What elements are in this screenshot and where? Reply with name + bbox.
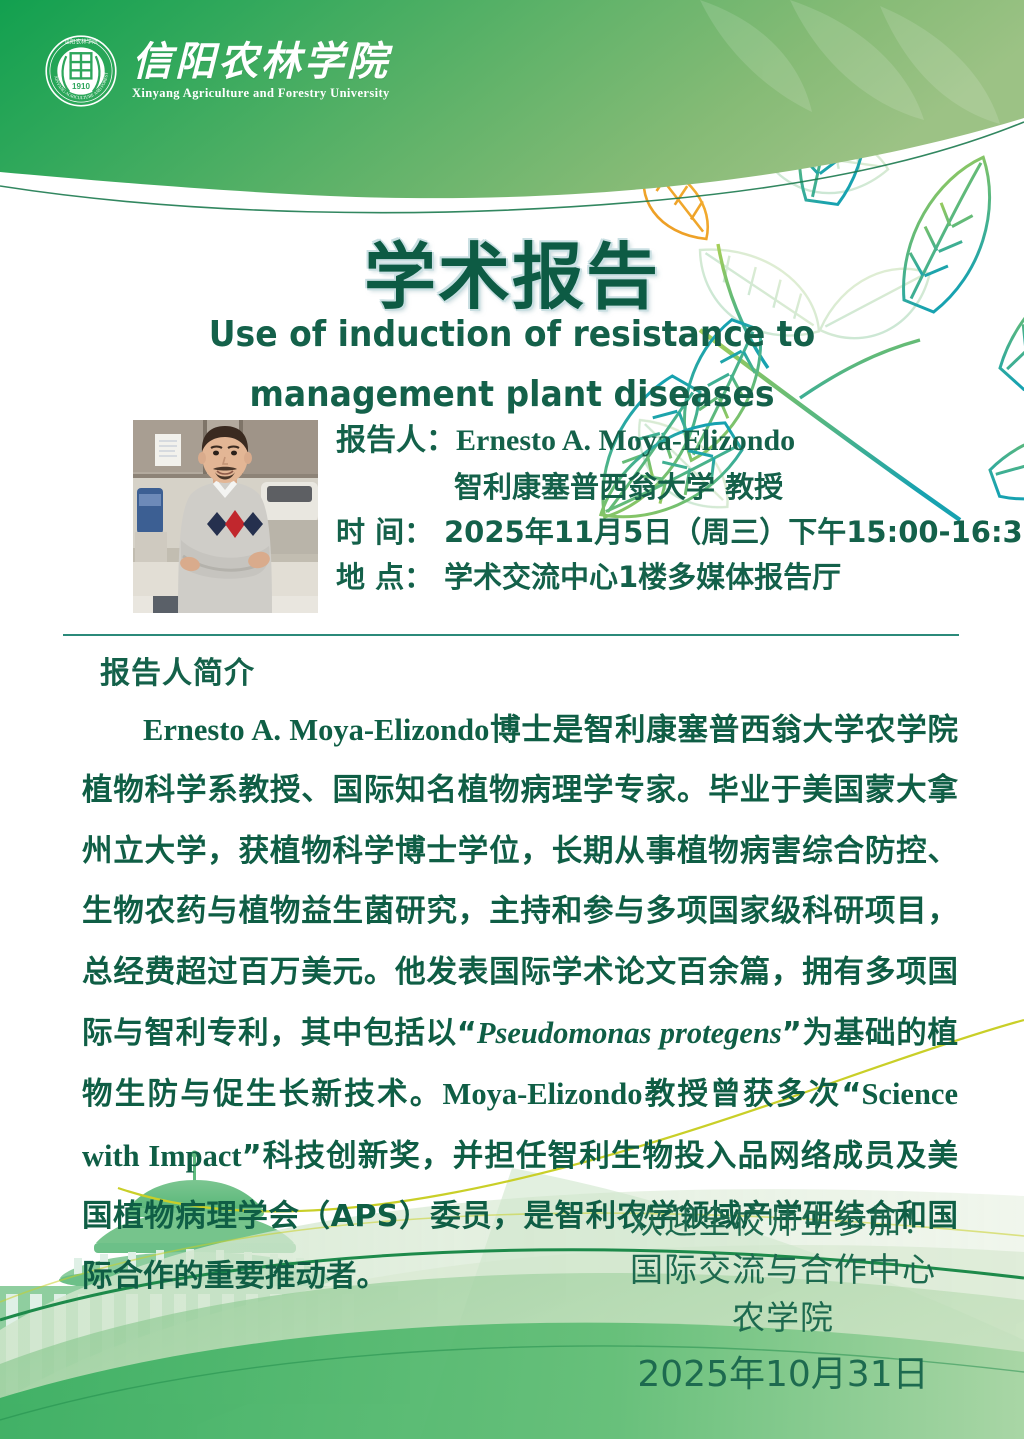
- university-seal-icon: 1910 信阳农林学院 XINYANG AGRICULTURE AND FORE…: [44, 34, 118, 108]
- footer-welcome: 欢迎全校师生参加！: [630, 1198, 936, 1246]
- time-label: 时 间：: [336, 510, 444, 555]
- speaker-info: 报告人： Ernesto A. Moya-Elizondo 智利康塞普西翁大学 …: [336, 418, 1008, 601]
- footer-block: 欢迎全校师生参加！ 国际交流与合作中心 农学院 2025年10月31日: [630, 1198, 936, 1401]
- svg-text:1910: 1910: [72, 82, 91, 91]
- section-divider: [63, 634, 959, 636]
- place-value: 学术交流中心1楼多媒体报告厅: [444, 555, 841, 600]
- footer-org-center: 国际交流与合作中心: [630, 1246, 936, 1294]
- event-time-row: 时 间： 2025年11月5日（周三）下午15:00-16:30: [336, 510, 1008, 555]
- university-logo: 1910 信阳农林学院 XINYANG AGRICULTURE AND FORE…: [44, 34, 390, 108]
- speaker-name-row: 报告人： Ernesto A. Moya-Elizondo: [336, 418, 1008, 465]
- footer-org-college: 农学院: [630, 1294, 936, 1342]
- bio-part-1: Ernesto A. Moya-Elizondo: [143, 713, 489, 747]
- time-value: 2025年11月5日（周三）下午15:00-16:30: [444, 510, 1024, 555]
- bio-part-6: 教授曾获多次“: [642, 1077, 861, 1112]
- speaker-photo: [133, 420, 318, 613]
- bio-part-5: Moya-Elizondo: [443, 1077, 643, 1111]
- place-label: 地 点：: [336, 555, 444, 600]
- page-title-en: Use of induction of resistance to manage…: [101, 305, 923, 424]
- poster-root: 1910 信阳农林学院 XINYANG AGRICULTURE AND FORE…: [0, 0, 1024, 1439]
- speaker-label: 报告人：: [336, 418, 456, 465]
- speaker-name: Ernesto A. Moya-Elizondo: [456, 418, 795, 465]
- speaker-portrait-illustration: [133, 420, 318, 613]
- footer-date: 2025年10月31日: [630, 1349, 936, 1402]
- university-name-cn: 信阳农林学院: [132, 41, 390, 83]
- bio-part-2: 博士是智利康塞普西翁大学农学院植物科学系教授、国际知名植物病理学专家。毕业于美国…: [82, 713, 958, 1051]
- speaker-affiliation: 智利康塞普西翁大学 教授: [336, 465, 1008, 510]
- bio-heading: 报告人简介: [100, 648, 255, 692]
- university-name-en: Xinyang Agriculture and Forestry Univers…: [132, 86, 390, 101]
- bio-part-3: Pseudomonas protegens: [477, 1016, 782, 1050]
- event-place-row: 地 点： 学术交流中心1楼多媒体报告厅: [336, 555, 1008, 600]
